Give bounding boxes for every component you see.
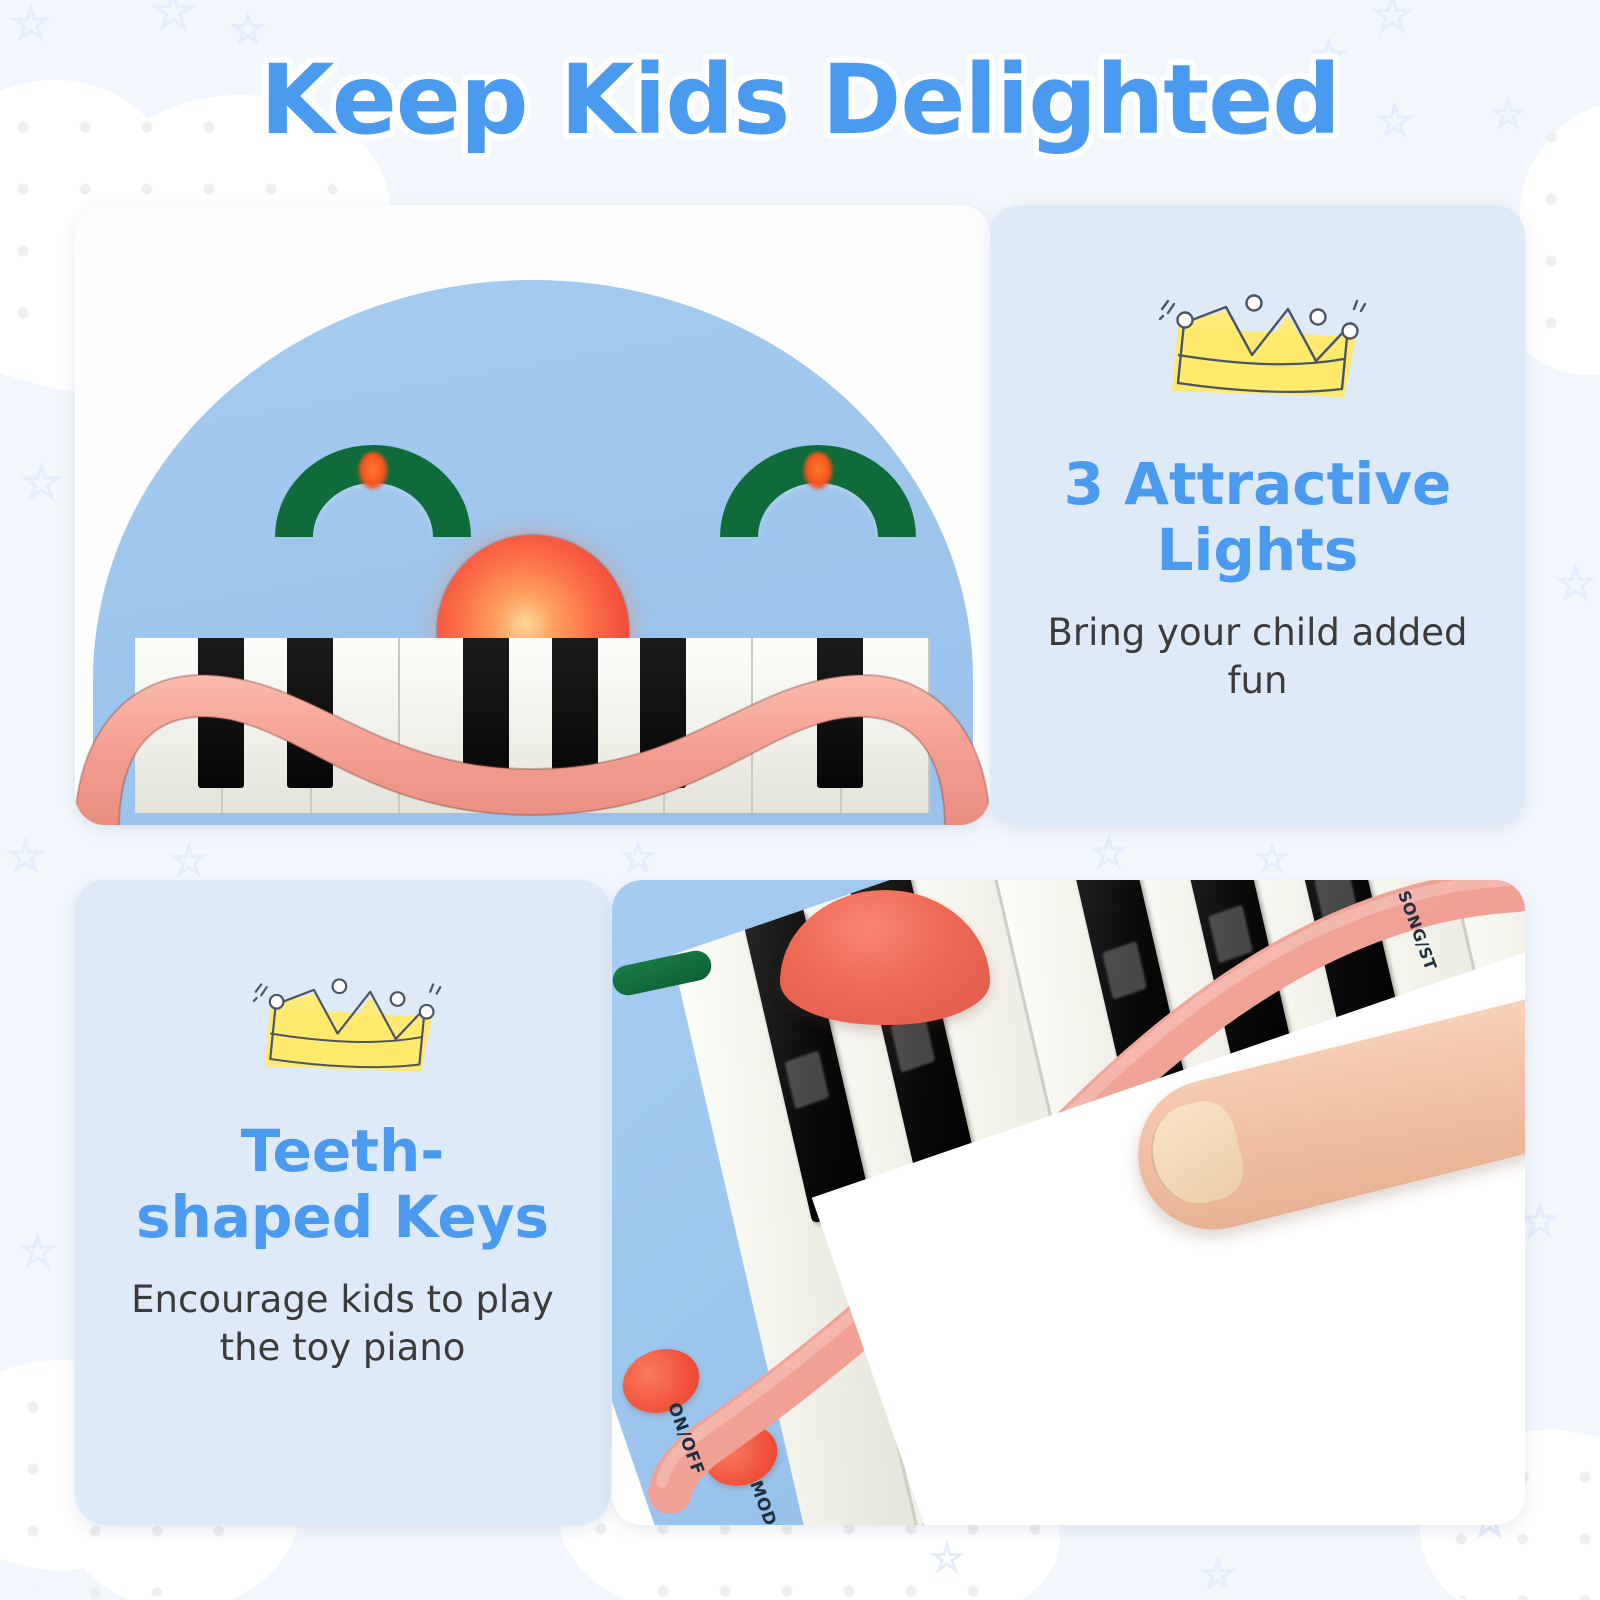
white-key	[135, 638, 223, 813]
star-icon: ☆	[10, 0, 51, 46]
black-key	[287, 638, 333, 788]
star-icon: ☆	[170, 840, 208, 882]
star-icon: ☆	[1090, 832, 1128, 874]
black-key	[552, 638, 598, 788]
teeth-keys-image: ON/OFF MODE SONG/ST	[612, 880, 1525, 1525]
left-eye-led-icon	[358, 452, 388, 490]
feature-card-lights: 3 Attractive Lights Bring your child add…	[990, 205, 1525, 825]
star-icon: ☆	[1200, 1555, 1236, 1595]
star-icon: ☆	[6, 835, 45, 879]
black-key	[817, 638, 863, 788]
black-key	[640, 638, 686, 788]
keyboard-closeup-photo-card: ON/OFF MODE SONG/ST	[612, 880, 1525, 1525]
star-icon: ☆	[930, 1540, 964, 1578]
feature-title-teeth: Teeth-shaped Keys	[123, 1118, 563, 1250]
mouth-keyboard-area	[75, 625, 990, 825]
crown-icon	[243, 964, 443, 1074]
clown-face-photo-card	[75, 205, 990, 825]
feature-card-teeth: Teeth-shaped Keys Encourage kids to play…	[75, 880, 610, 1525]
white-key	[400, 638, 488, 813]
toy-piano-face-image	[75, 205, 990, 825]
page-header: Keep Kids Delighted	[0, 44, 1600, 156]
star-icon: ☆	[1555, 560, 1596, 606]
feature-subtitle-lights: Bring your child added fun	[1023, 609, 1493, 704]
crown-icon	[1148, 279, 1368, 399]
star-icon: ☆	[1255, 840, 1289, 878]
star-icon: ☆	[620, 838, 656, 878]
star-icon: ☆	[20, 460, 63, 508]
right-eye-led-icon	[803, 452, 833, 490]
page-title: Keep Kids Delighted	[260, 44, 1340, 156]
star-icon: ☆	[1520, 1200, 1559, 1244]
black-key	[198, 638, 244, 788]
feature-title-lights: 3 Attractive Lights	[1038, 451, 1478, 583]
star-icon: ☆	[18, 1230, 57, 1274]
star-icon: ☆	[150, 0, 197, 38]
piano-keys-strip	[135, 638, 930, 813]
star-icon: ☆	[1370, 0, 1415, 40]
feature-subtitle-teeth: Encourage kids to play the toy piano	[108, 1276, 578, 1371]
black-key	[463, 638, 509, 788]
white-key	[753, 638, 841, 813]
